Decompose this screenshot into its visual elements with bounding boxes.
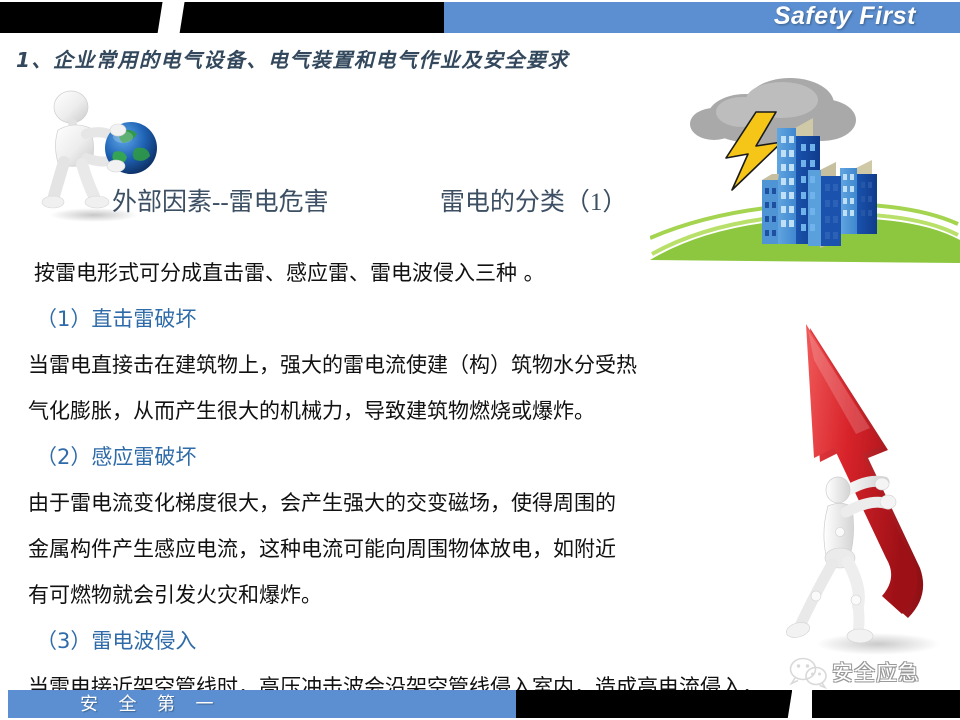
section-subtitle: 外部因素--雷电危害 雷电的分类（1） — [112, 182, 732, 218]
footer-black-bar-right — [812, 690, 960, 718]
footer-black-bar-left — [516, 690, 792, 718]
body-heading: （2）感应雷破坏 — [28, 434, 798, 480]
header-black-bar-right — [178, 2, 444, 33]
wechat-icon — [788, 655, 828, 689]
page-title: 1、企业常用的电气设备、电气装置和电气作业及安全要求 — [16, 44, 569, 73]
channel-watermark: 安全应急 — [788, 655, 953, 689]
body-heading: （1）直击雷破坏 — [28, 296, 798, 342]
slide-canvas: Safety First 1、企业常用的电气设备、电气装置和电气作业及安全要求 — [0, 0, 960, 720]
body-content: 按雷电形式可分成直击雷、感应雷、雷电波侵入三种 。 （1）直击雷破坏 当雷电直接… — [28, 250, 798, 720]
subtitle-topic: 外部因素--雷电危害 — [112, 182, 329, 218]
brand-title: Safety First — [774, 1, 916, 32]
header-black-bar-left — [0, 2, 166, 33]
body-line: 有可燃物就会引发火灾和爆炸。 — [28, 572, 798, 618]
body-line: 按雷电形式可分成直击雷、感应雷、雷电波侵入三种 。 — [28, 250, 798, 296]
body-line: 气化膨胀，从而产生很大的机械力，导致建筑物燃烧或爆炸。 — [28, 388, 798, 434]
body-line: 金属构件产生感应电流，这种电流可能向周围物体放电，如附近 — [28, 526, 798, 572]
footer-slogan: 安 全 第 一 — [80, 690, 222, 718]
lightning-buildings-illustration — [650, 78, 960, 263]
watermark-label: 安全应急 — [832, 657, 920, 687]
footer-diagonal-divider — [787, 688, 812, 720]
body-heading: （3）雷电波侵入 — [28, 618, 798, 664]
subtitle-classification: 雷电的分类（1） — [440, 182, 628, 218]
slide-header: Safety First — [0, 0, 960, 34]
mannequin-pushing-red-arrow-illustration — [770, 300, 950, 680]
body-line: 由于雷电流变化梯度很大，会产生强大的交变磁场，使得周围的 — [28, 480, 798, 526]
body-line: 当雷电直接击在建筑物上，强大的雷电流使建（构）筑物水分受热 — [28, 342, 798, 388]
slide-footer: 安 全 第 一 — [0, 690, 960, 720]
